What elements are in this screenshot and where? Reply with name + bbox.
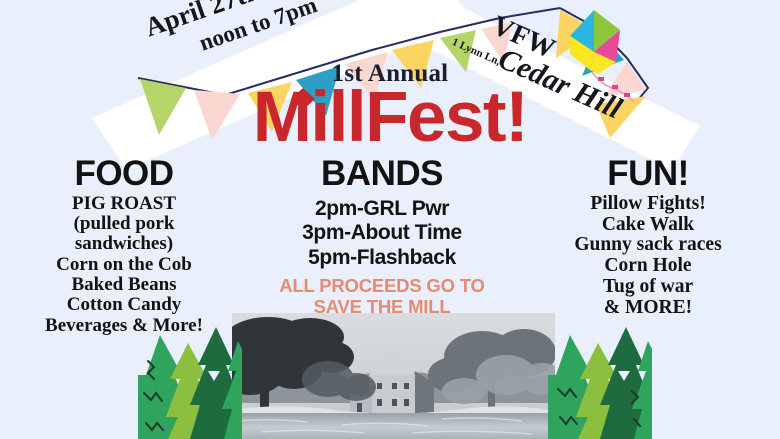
list-item: Corn on the Cob: [0, 255, 248, 275]
list-item: Cake Walk: [516, 215, 780, 236]
list-item: 2pm-GRL Pwr: [248, 197, 516, 222]
list-item: Tug of war: [516, 277, 780, 298]
list-item: 5pm-Flashback: [248, 246, 516, 271]
page-title: MillFest!: [0, 82, 780, 153]
list-item: Baked Beans: [0, 275, 248, 295]
list-item: Pillow Fights!: [516, 194, 780, 215]
fun-heading: FUN!: [516, 156, 780, 192]
mill-photograph: [232, 313, 555, 439]
list-item: Corn Hole: [516, 256, 780, 277]
food-heading: FOOD: [0, 156, 248, 192]
list-item: sandwiches): [0, 234, 248, 254]
bunting-flag: [556, 10, 596, 58]
list-item: Gunny sack races: [516, 235, 780, 256]
pine-trees-left: [138, 313, 242, 439]
bands-list: 2pm-GRL Pwr 3pm-About Time 5pm-Flashback: [248, 197, 516, 271]
list-item: 3pm-About Time: [248, 221, 516, 246]
list-item: (pulled pork: [0, 214, 248, 234]
column-fun: FUN! Pillow Fights! Cake Walk Gunny sack…: [516, 156, 780, 319]
bands-heading: BANDS: [248, 156, 516, 192]
proceeds-line: ALL PROCEEDS GO TO: [248, 276, 516, 297]
pine-trees-right: [548, 313, 652, 439]
bottom-scene: [0, 300, 780, 439]
list-item: PIG ROAST: [0, 194, 248, 214]
column-bands: BANDS 2pm-GRL Pwr 3pm-About Time 5pm-Fla…: [248, 156, 516, 317]
event-flyer: April 27th! noon to 7pm 1 Lynn Ln, VFW C…: [0, 0, 780, 439]
